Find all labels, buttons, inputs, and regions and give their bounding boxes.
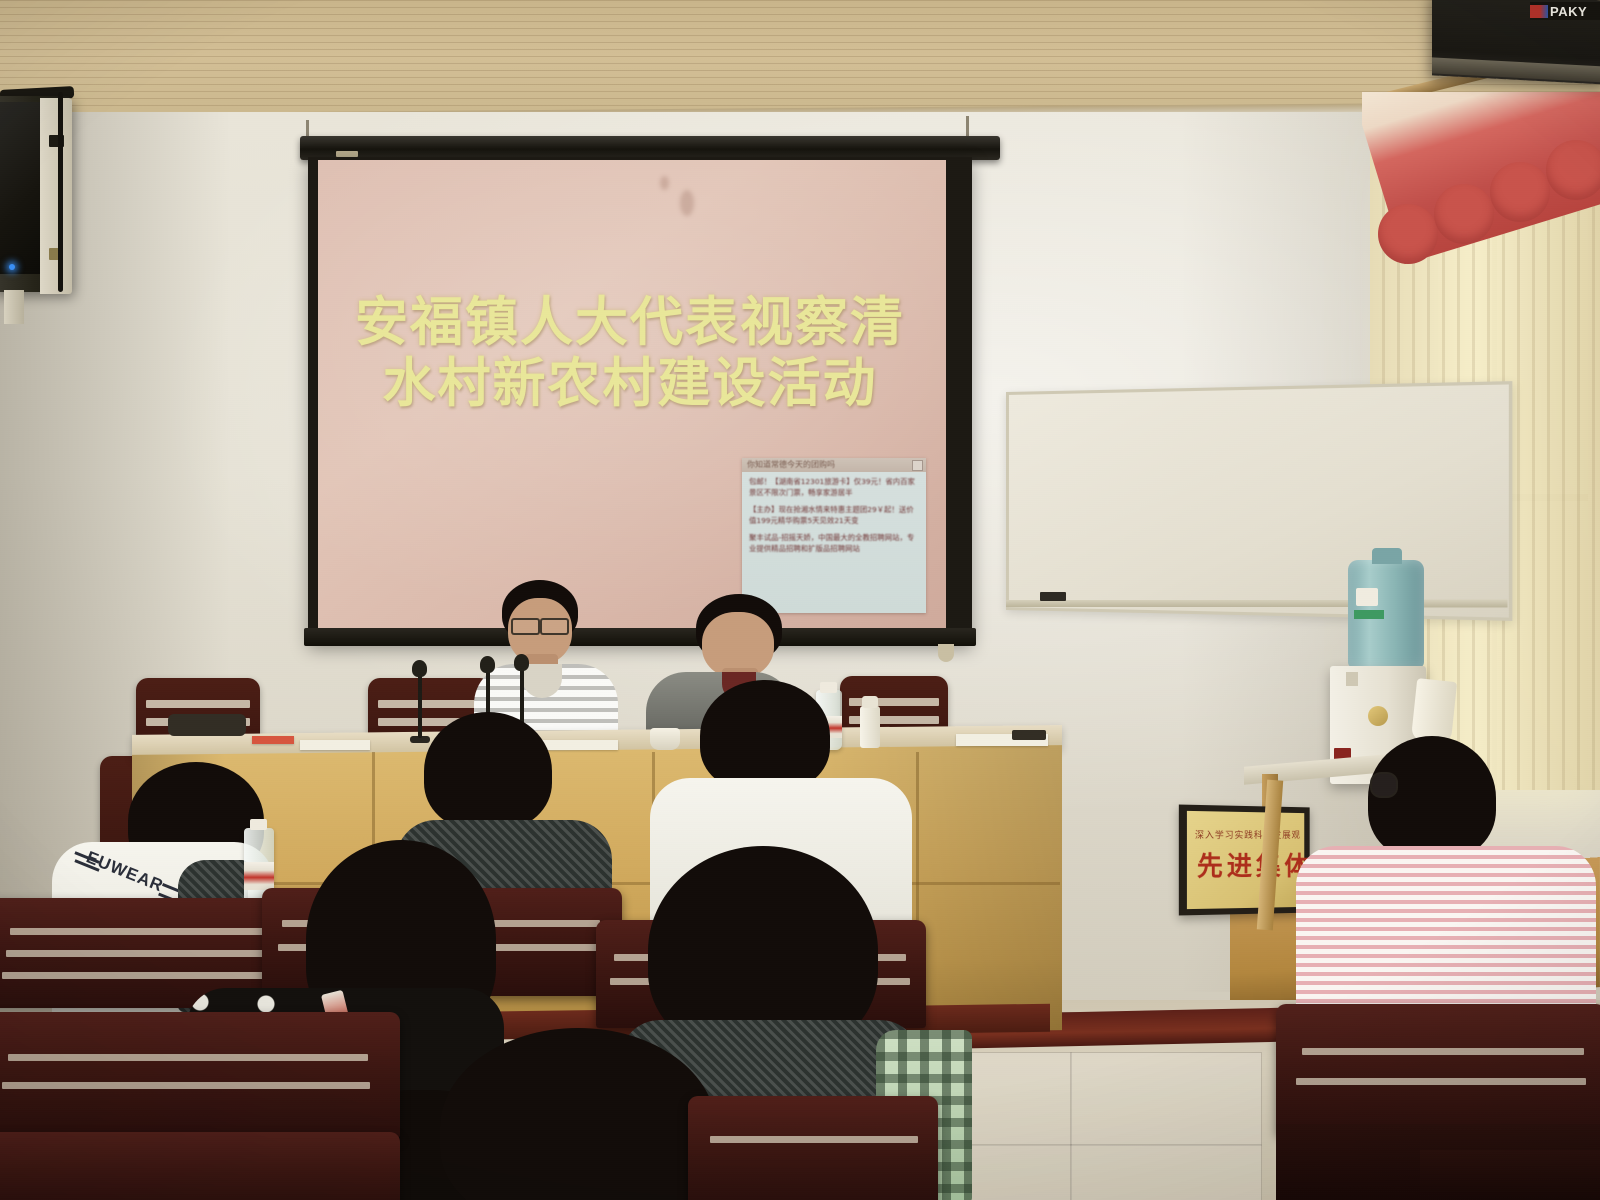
glasses-icon: [540, 618, 569, 635]
projector-screen-pull-handle[interactable]: [938, 644, 954, 662]
tv-cable: [58, 92, 63, 292]
close-icon[interactable]: [912, 460, 923, 471]
remote-control[interactable]: [1012, 730, 1046, 740]
tv-stand: [4, 290, 24, 324]
bench[interactable]: [688, 1096, 938, 1200]
tv-power-led-icon: [9, 264, 15, 270]
bench[interactable]: [1276, 1004, 1600, 1134]
popup-paragraph: 聚丰试品-招摇天娇，中国最大的全教招聘网站，专业提供精品招聘和扩版品招聘网站: [749, 533, 919, 554]
projector-screen-bottom-bar: [304, 628, 976, 646]
speaker-brand-logo: PAKY: [1530, 2, 1600, 20]
bottle-cap: [820, 682, 837, 693]
small-object[interactable]: [168, 714, 246, 736]
cup[interactable]: [650, 728, 680, 750]
bottle-label: [244, 862, 274, 890]
speaker-brand-text: PAKY: [1550, 4, 1587, 19]
screen-hook-right: [966, 116, 969, 138]
popup-body: 包邮！【湖南省12301旅游卡】仅39元！省内百家景区不限次门票，畅享家游居半 …: [742, 472, 926, 613]
paper-sheet[interactable]: [540, 740, 618, 750]
whiteboard-eraser[interactable]: [1040, 592, 1066, 601]
certificate-subtitle: 深入学习实践科学发展观: [1195, 828, 1303, 841]
whiteboard: [1006, 381, 1512, 621]
brand-mark-icon: [1530, 5, 1548, 18]
microphone-head[interactable]: [412, 660, 427, 677]
tv-side-panel: [40, 98, 72, 294]
bottle-cap: [250, 819, 267, 830]
microphone-stem: [418, 672, 422, 738]
bench[interactable]: [0, 1132, 400, 1200]
paper-sheet[interactable]: [300, 740, 370, 750]
popup-paragraph: 包邮！【湖南省12301旅游卡】仅39元！省内百家景区不限次门票，畅享家游居半: [749, 477, 919, 498]
person-head: [424, 712, 552, 830]
microphone-head[interactable]: [480, 656, 495, 673]
spray-bottle[interactable]: [860, 706, 880, 748]
person-head: [1368, 736, 1496, 860]
dispenser-tap[interactable]: [1346, 672, 1358, 686]
popup-paragraph: 【主办】现在抢湘水情来特惠主题团29￥起！送价值199元精华购票5天见效21天变: [749, 505, 919, 526]
slide-title: 安福镇人大代表视察清 水村新农村建设活动: [330, 292, 930, 415]
paper-cup[interactable]: [1411, 678, 1457, 744]
person-head: [700, 680, 830, 792]
tv-screen: [0, 102, 42, 274]
water-jug-seal: [1354, 610, 1384, 619]
spray-bottle-nozzle[interactable]: [862, 696, 878, 708]
dispenser-knob[interactable]: [1368, 706, 1388, 726]
ceiling: [0, 0, 1600, 118]
slide-title-line-2: 水村新农村建设活动: [330, 353, 930, 414]
whiteboard-tray: [1006, 600, 1508, 608]
glasses-icon: [1370, 772, 1398, 798]
microphone-head[interactable]: [514, 654, 529, 671]
popup-titlebar[interactable]: 你知道常德今天的团购吗: [742, 458, 926, 473]
desktop-popup-window[interactable]: 你知道常德今天的团购吗 包邮！【湖南省12301旅游卡】仅39元！省内百家景区不…: [742, 458, 926, 613]
slide-title-line-1: 安福镇人大代表视察清: [330, 292, 930, 353]
photo-scene: PAKY 安福镇人大代表视察清 水村新农村建设活动 你知道常德今天的团购吗 包邮…: [0, 0, 1600, 1200]
curtain-valance: [1362, 92, 1600, 302]
certificate-headline: 先进集体: [1197, 846, 1309, 884]
paper-sheet[interactable]: [252, 736, 294, 744]
bench[interactable]: [1420, 1150, 1600, 1200]
water-jug-label: [1356, 588, 1378, 606]
glasses-icon: [511, 618, 540, 635]
bench[interactable]: [0, 1012, 400, 1138]
popup-title-text: 你知道常德今天的团购吗: [747, 459, 897, 470]
water-jug-neck: [1372, 548, 1402, 564]
